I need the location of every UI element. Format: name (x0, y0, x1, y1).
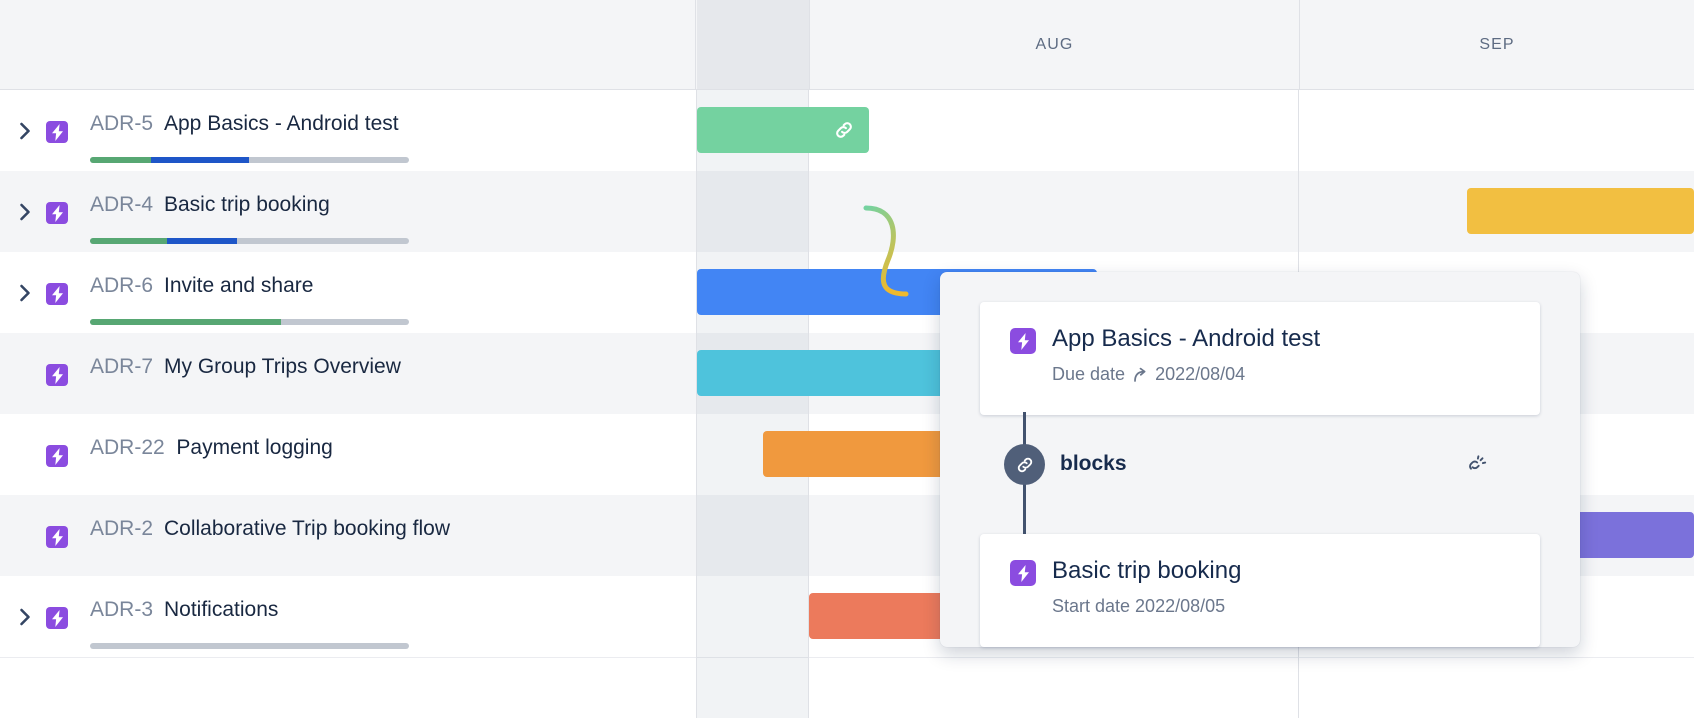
expand-chevron-icon[interactable] (14, 120, 36, 142)
epic-bolt-icon (1010, 560, 1036, 586)
issue-key[interactable]: ADR-22 (90, 436, 165, 460)
issue-row-adr-2[interactable]: ADR-2Collaborative Trip booking flow (0, 495, 696, 576)
expand-chevron-icon[interactable] (14, 282, 36, 304)
issue-row-adr-3[interactable]: ADR-3Notifications (0, 576, 696, 657)
epic-bolt-icon (46, 526, 68, 548)
arrow-turn-right-icon (1132, 367, 1148, 383)
popup-target-title: Basic trip booking (1052, 557, 1241, 585)
timeline-header: AUG SEP (0, 0, 1694, 90)
epic-bolt-icon (46, 607, 68, 629)
popup-target-card[interactable]: Basic trip booking Start date 2022/08/05 (980, 534, 1540, 647)
today-band-header (697, 0, 809, 90)
dependency-popup[interactable]: App Basics - Android test Due date 2022/… (940, 272, 1580, 647)
issue-summary[interactable]: App Basics - Android test (164, 112, 399, 136)
popup-target-date-label: Start date 2022/08/05 (1052, 596, 1225, 617)
popup-relation-label: blocks (1060, 452, 1127, 476)
issue-summary[interactable]: My Group Trips Overview (164, 355, 401, 379)
issue-key[interactable]: ADR-4 (90, 193, 153, 217)
progress-bar (90, 238, 409, 244)
popup-source-date-label: Due date (1052, 364, 1125, 385)
row-divider (0, 657, 1694, 658)
progress-bar (90, 157, 409, 163)
issue-key[interactable]: ADR-3 (90, 598, 153, 622)
epic-bolt-icon (46, 283, 68, 305)
epic-bolt-icon (1010, 328, 1036, 354)
issue-row-adr-22[interactable]: ADR-22Payment logging (0, 414, 696, 495)
progress-bar (90, 643, 409, 649)
issue-row-adr-6[interactable]: ADR-6Invite and share (0, 252, 696, 333)
epic-bolt-icon (46, 202, 68, 224)
timeline-body: ADR-5App Basics - Android testADR-4Basic… (0, 90, 1694, 718)
issue-summary[interactable]: Notifications (164, 598, 278, 622)
issue-row-adr-7[interactable]: ADR-7My Group Trips Overview (0, 333, 696, 414)
issue-key[interactable]: ADR-6 (90, 274, 153, 298)
epic-bolt-icon (46, 121, 68, 143)
header-name-column (0, 0, 696, 90)
issue-summary[interactable]: Collaborative Trip booking flow (164, 517, 450, 541)
gantt-bar-adr-4[interactable] (1467, 188, 1694, 234)
issue-row-adr-5[interactable]: ADR-5App Basics - Android test (0, 90, 696, 171)
issue-summary[interactable]: Invite and share (164, 274, 313, 298)
issue-key[interactable]: ADR-2 (90, 517, 153, 541)
issue-summary[interactable]: Payment logging (176, 436, 332, 460)
popup-source-date: Due date 2022/08/04 (1052, 364, 1245, 385)
timeline-view: AUG SEP ADR-5App Basics - Android testAD… (0, 0, 1694, 718)
issue-row-adr-4[interactable]: ADR-4Basic trip booking (0, 171, 696, 252)
issue-key[interactable]: ADR-5 (90, 112, 153, 136)
month-label-sep: SEP (1299, 0, 1694, 90)
popup-source-title: App Basics - Android test (1052, 325, 1320, 353)
progress-bar (90, 319, 409, 325)
month-label-aug: AUG (809, 0, 1299, 90)
epic-bolt-icon (46, 364, 68, 386)
link-icon (1004, 444, 1045, 485)
popup-source-date-value: 2022/08/04 (1155, 364, 1245, 385)
grid-divider-name-column (696, 90, 697, 718)
unlink-icon[interactable] (1460, 450, 1490, 480)
issue-summary[interactable]: Basic trip booking (164, 193, 330, 217)
expand-chevron-icon[interactable] (14, 606, 36, 628)
popup-source-card[interactable]: App Basics - Android test Due date 2022/… (980, 302, 1540, 415)
popup-target-date: Start date 2022/08/05 (1052, 596, 1225, 617)
epic-bolt-icon (46, 445, 68, 467)
issue-key[interactable]: ADR-7 (90, 355, 153, 379)
link-icon[interactable] (831, 117, 857, 143)
today-band (697, 90, 809, 718)
gantt-bar-adr-5[interactable] (697, 107, 869, 153)
expand-chevron-icon[interactable] (14, 201, 36, 223)
